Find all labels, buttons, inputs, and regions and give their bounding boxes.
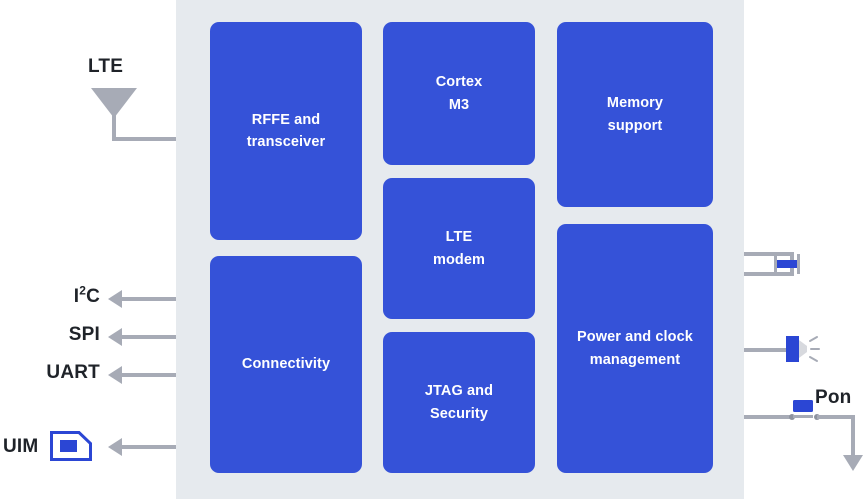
wire-led: [744, 348, 788, 352]
block-memory-support[interactable]: Memory support: [557, 22, 713, 207]
block-rffe-label: RFFE and transceiver: [247, 109, 326, 154]
block-lte-modem[interactable]: LTE modem: [383, 178, 535, 319]
wire-spi: [121, 335, 176, 339]
arrow-i2c: [108, 290, 122, 308]
wire-pon-left: [744, 415, 792, 419]
port-label-i2c: I2C: [20, 286, 100, 308]
diagram-canvas: RFFE and transceiver Cortex M3 Memory su…: [0, 0, 865, 499]
wire-pon-right: [817, 415, 855, 419]
port-label-uim: UIM: [3, 436, 38, 458]
arrow-spi: [108, 328, 122, 346]
push-button-icon: [791, 398, 815, 422]
crystal-oscillator-icon: [770, 252, 804, 276]
led-icon: [786, 332, 822, 366]
wire-uim: [121, 445, 176, 449]
port-label-pon: Pon: [815, 387, 852, 409]
wire-uart: [121, 373, 176, 377]
port-label-spi: SPI: [20, 324, 100, 346]
block-connectivity[interactable]: Connectivity: [210, 256, 362, 473]
block-rffe[interactable]: RFFE and transceiver: [210, 22, 362, 240]
block-memory-support-label: Memory support: [607, 92, 663, 137]
wire-pon-drop: [851, 415, 855, 457]
block-cortex-m3[interactable]: Cortex M3: [383, 22, 535, 165]
block-jtag-security[interactable]: JTAG and Security: [383, 332, 535, 473]
block-connectivity-label: Connectivity: [242, 353, 330, 375]
port-label-lte: LTE: [88, 56, 123, 78]
arrow-uim: [108, 438, 122, 456]
arrow-uart: [108, 366, 122, 384]
block-lte-modem-label: LTE modem: [433, 226, 485, 271]
block-power-clock-management[interactable]: Power and clock management: [557, 224, 713, 473]
wire-i2c: [121, 297, 176, 301]
sim-card-icon: [49, 430, 93, 462]
port-label-uart: UART: [20, 362, 100, 384]
arrow-pon-down: [843, 455, 863, 471]
block-jtag-security-label: JTAG and Security: [425, 380, 493, 425]
block-cortex-m3-label: Cortex M3: [436, 71, 483, 116]
block-power-clock-management-label: Power and clock management: [577, 326, 693, 371]
